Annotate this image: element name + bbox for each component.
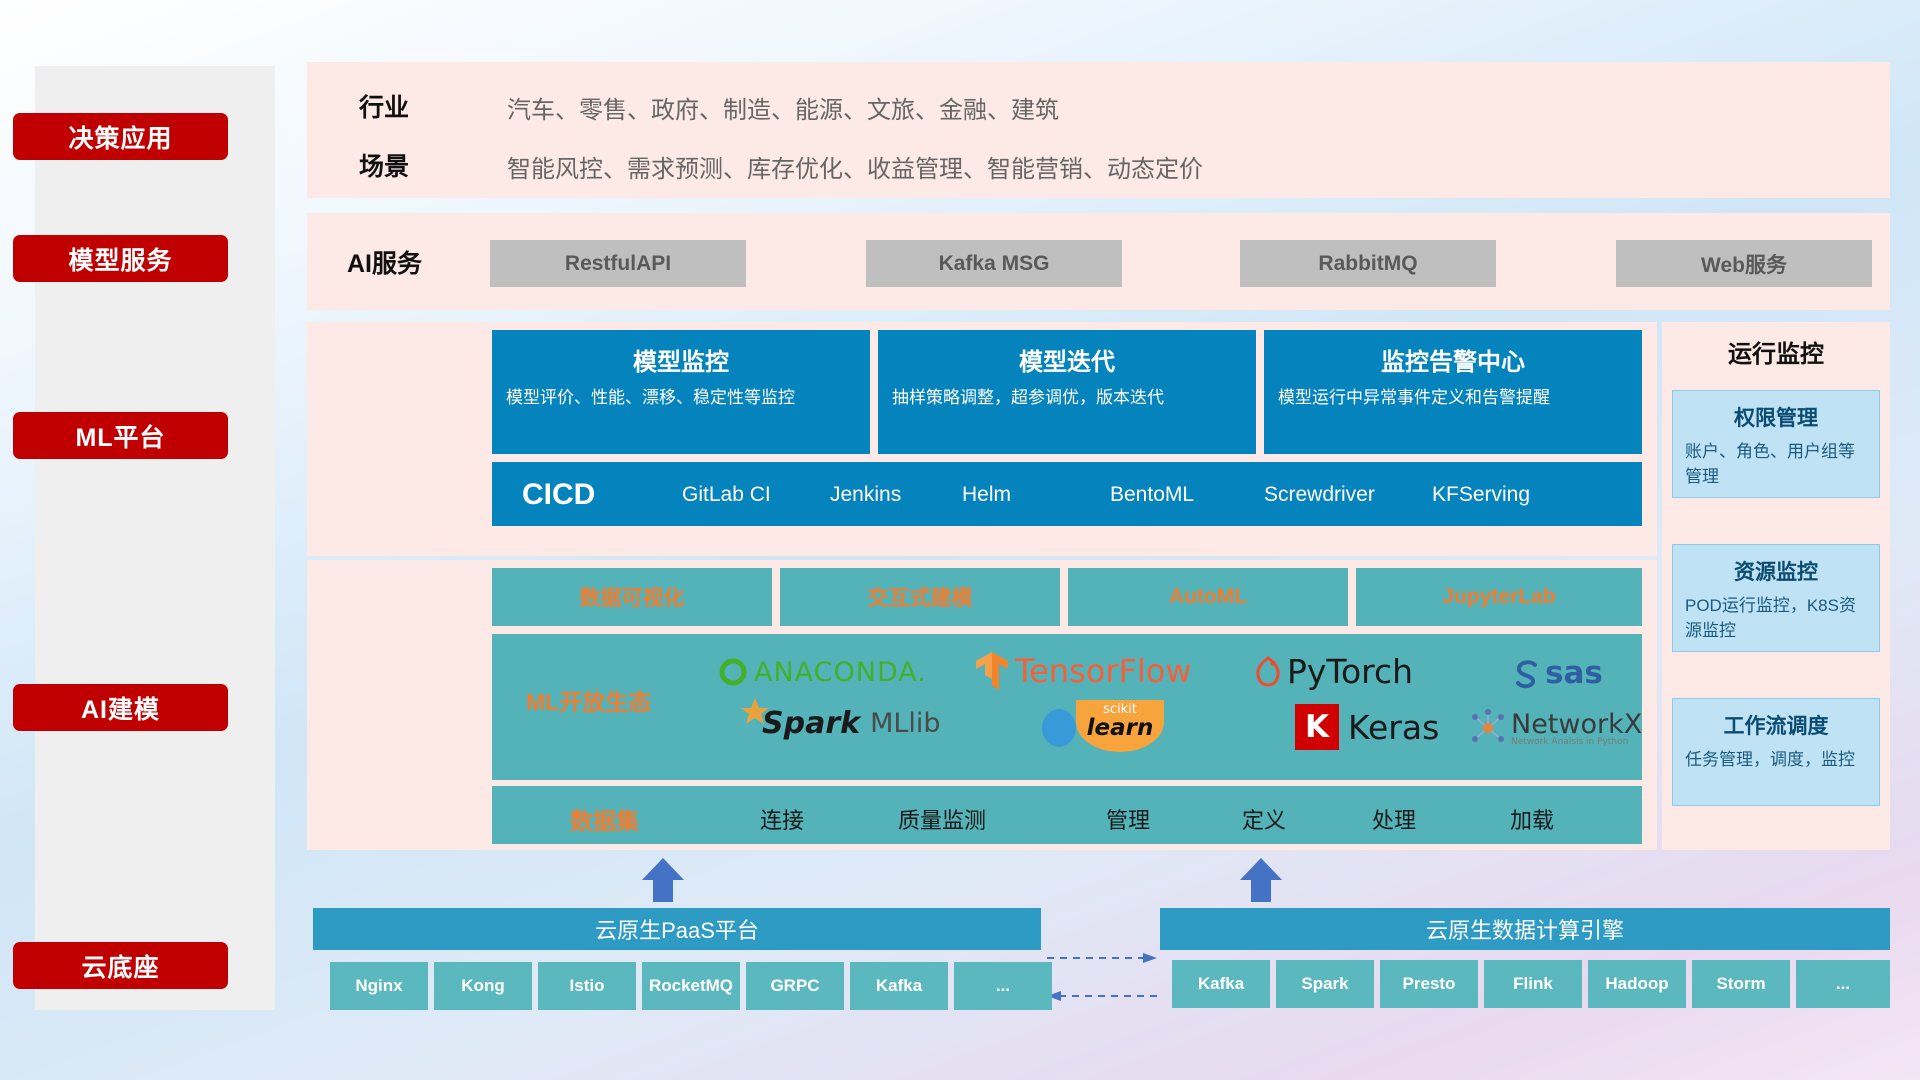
tech-chip-flink[interactable]: Flink	[1484, 960, 1582, 1008]
monitoring-card-desc: 账户、角色、用户组等管理	[1685, 440, 1867, 489]
tech-chip-label: Presto	[1403, 974, 1456, 994]
networkx-glyph	[1468, 708, 1508, 748]
keras-mark-letter: K	[1305, 709, 1329, 745]
service-chip-label: Web服务	[1701, 249, 1787, 279]
data-engine-label: 云原生数据计算引擎	[1426, 913, 1624, 945]
networkx-tagline: Network Analsis in Python	[1511, 737, 1642, 747]
data-engine-bar[interactable]: 云原生数据计算引擎	[1160, 908, 1890, 950]
mlops-card-title: 模型监控	[492, 342, 870, 377]
tool-tab-data-visualization[interactable]: 数据可视化	[492, 568, 772, 626]
dataset-label: 数据集	[570, 802, 639, 836]
monitoring-title: 运行监控	[1662, 334, 1890, 369]
service-chip-label: Kafka MSG	[939, 252, 1050, 276]
mlops-card-desc: 模型评价、性能、漂移、稳定性等监控	[506, 386, 856, 411]
tech-chip-label: ...	[996, 976, 1010, 996]
dataset-item-connect[interactable]: 连接	[760, 803, 804, 835]
layer-chip-decision[interactable]: 决策应用	[13, 113, 228, 160]
tech-chip-more-right[interactable]: ...	[1796, 960, 1890, 1008]
tensorflow-logo: TensorFlow	[972, 650, 1192, 692]
mlops-card-desc: 抽样策略调整，超参调优，版本迭代	[892, 386, 1242, 411]
tech-chip-hadoop[interactable]: Hadoop	[1588, 960, 1686, 1008]
cloud-link-arrows	[1045, 946, 1159, 1008]
cicd-item-kfserving[interactable]: KFServing	[1432, 482, 1542, 508]
scenario-value: 智能风控、需求预测、库存优化、收益管理、智能营销、动态定价	[507, 149, 1203, 184]
tech-chip-nginx[interactable]: Nginx	[330, 962, 428, 1010]
mlops-card-desc: 模型运行中异常事件定义和告警提醒	[1278, 386, 1628, 411]
dataset-item-manage[interactable]: 管理	[1106, 803, 1150, 835]
mllib-wordmark: MLlib	[870, 708, 940, 739]
scikit-learn-logo: scikit learn	[1040, 700, 1182, 752]
tech-chip-istio[interactable]: Istio	[538, 962, 636, 1010]
service-chip-label: RabbitMQ	[1318, 252, 1417, 276]
networkx-text-block: NetworkX Network Analsis in Python	[1511, 709, 1642, 747]
tool-tab-label: 交互式建模	[868, 582, 973, 612]
architecture-diagram: 决策应用 模型服务 ML平台 AI建模 云底座 行业 汽车、零售、政府、制造、能…	[0, 0, 1920, 1080]
tech-chip-label: Kong	[461, 976, 504, 996]
spark-wordmark: Spark	[762, 706, 860, 741]
layer-chip-ml-platform[interactable]: ML平台	[13, 412, 228, 459]
cicd-item-helm[interactable]: Helm	[962, 482, 1052, 508]
cicd-label: CICD	[522, 478, 595, 512]
anaconda-glyph	[716, 655, 750, 689]
dataset-item-quality[interactable]: 质量监测	[898, 803, 986, 835]
tech-chip-label: Flink	[1513, 974, 1553, 994]
cicd-bar: CICD GitLab CI Jenkins Helm BentoML Scre…	[492, 462, 1642, 526]
data-engine-up-arrow-icon	[1238, 856, 1284, 904]
tool-tab-interactive-modeling[interactable]: 交互式建模	[780, 568, 1060, 626]
dataset-item-load[interactable]: 加载	[1510, 803, 1554, 835]
monitoring-card-desc: POD运行监控，K8S资源监控	[1685, 594, 1867, 643]
tech-chip-kong[interactable]: Kong	[434, 962, 532, 1010]
service-chip-label: RestfulAPI	[565, 252, 671, 276]
tech-chip-label: Istio	[570, 976, 605, 996]
sas-wordmark: sas	[1545, 655, 1603, 691]
pytorch-logo: PyTorch	[1252, 652, 1413, 691]
ml-ecosystem-caption: ML开放生态	[526, 688, 651, 718]
tech-chip-label: Hadoop	[1605, 974, 1668, 994]
cicd-item-bentoml[interactable]: BentoML	[1110, 482, 1208, 508]
layer-chip-label: ML平台	[75, 418, 165, 454]
monitoring-card-resources[interactable]: 资源监控 POD运行监控，K8S资源监控	[1672, 544, 1880, 652]
tech-chip-spark[interactable]: Spark	[1276, 960, 1374, 1008]
sas-logo: sas	[1510, 655, 1603, 691]
anaconda-logo: ANACONDA.	[716, 655, 927, 689]
dataset-item-process[interactable]: 处理	[1372, 803, 1416, 835]
mlops-card-title: 模型迭代	[878, 342, 1256, 377]
decision-panel: 行业 汽车、零售、政府、制造、能源、文旅、金融、建筑 场景 智能风控、需求预测、…	[307, 62, 1890, 198]
layer-chip-label: AI建模	[81, 690, 160, 726]
paas-up-arrow-icon	[640, 856, 686, 904]
service-chip-web[interactable]: Web服务	[1616, 240, 1872, 287]
industry-value: 汽车、零售、政府、制造、能源、文旅、金融、建筑	[507, 90, 1059, 125]
tool-tab-jupyterlab[interactable]: JupyterLab	[1356, 568, 1642, 626]
pytorch-wordmark: PyTorch	[1287, 652, 1413, 691]
layer-chip-cloud-base[interactable]: 云底座	[13, 942, 228, 989]
keras-mark: K	[1295, 704, 1339, 750]
cicd-item-screwdriver[interactable]: Screwdriver	[1264, 482, 1386, 508]
networkx-logo: NetworkX Network Analsis in Python	[1468, 708, 1642, 748]
anaconda-wordmark: ANACONDA.	[754, 657, 927, 688]
spark-mllib-logo: Spark MLlib	[740, 706, 941, 741]
layer-chip-label: 云底座	[81, 948, 159, 984]
layer-rail	[35, 66, 275, 1010]
tech-chip-grpc[interactable]: GRPC	[746, 962, 844, 1010]
tech-chip-label: Spark	[1301, 974, 1348, 994]
mlops-card-title: 监控告警中心	[1264, 342, 1642, 377]
tech-chip-label: ...	[1836, 974, 1850, 994]
tech-chip-label: Storm	[1716, 974, 1765, 994]
industry-key: 行业	[359, 88, 409, 124]
tech-chip-label: Kafka	[1198, 974, 1244, 994]
tool-tab-label: JupyterLab	[1442, 585, 1555, 609]
mlops-card-model-monitoring[interactable]: 模型监控 模型评价、性能、漂移、稳定性等监控	[492, 330, 870, 454]
layer-chip-ai-modeling[interactable]: AI建模	[13, 684, 228, 731]
layer-chip-label: 决策应用	[68, 119, 172, 155]
paas-platform-bar[interactable]: 云原生PaaS平台	[313, 908, 1041, 950]
scenario-key: 场景	[359, 147, 409, 183]
service-chip-restfulapi[interactable]: RestfulAPI	[490, 240, 746, 287]
tech-chip-presto[interactable]: Presto	[1380, 960, 1478, 1008]
tool-tab-automl[interactable]: AutoML	[1068, 568, 1348, 626]
monitoring-card-title: 权限管理	[1673, 402, 1879, 432]
spark-star-glyph	[740, 697, 770, 727]
monitoring-card-workflow[interactable]: 工作流调度 任务管理，调度，监控	[1672, 698, 1880, 806]
dataset-item-define[interactable]: 定义	[1242, 803, 1286, 835]
tech-chip-kafka-right[interactable]: Kafka	[1172, 960, 1270, 1008]
keras-logo: K Keras	[1295, 704, 1439, 750]
layer-chip-label: 模型服务	[68, 241, 172, 277]
tech-chip-rocketmq[interactable]: RocketMQ	[642, 962, 740, 1010]
tensorflow-wordmark: TensorFlow	[1015, 652, 1192, 690]
paas-platform-label: 云原生PaaS平台	[595, 913, 759, 945]
networkx-wordmark: NetworkX	[1511, 709, 1642, 740]
tech-chip-label: RocketMQ	[649, 976, 733, 996]
cicd-item-gitlab-ci[interactable]: GitLab CI	[682, 482, 812, 508]
tool-tab-label: 数据可视化	[580, 582, 685, 612]
pytorch-glyph	[1252, 653, 1284, 691]
monitoring-card-permissions[interactable]: 权限管理 账户、角色、用户组等管理	[1672, 390, 1880, 498]
tool-tab-label: AutoML	[1169, 585, 1247, 609]
tech-chip-label: Nginx	[355, 976, 402, 996]
dataset-band	[492, 786, 1642, 844]
mlops-card-model-iteration[interactable]: 模型迭代 抽样策略调整，超参调优，版本迭代	[878, 330, 1256, 454]
service-chip-rabbitmq[interactable]: RabbitMQ	[1240, 240, 1496, 287]
learn-wordmark: learn	[1076, 715, 1164, 741]
cicd-item-jenkins[interactable]: Jenkins	[830, 482, 906, 508]
tech-chip-label: Kafka	[876, 976, 922, 996]
monitoring-card-desc: 任务管理，调度，监控	[1685, 748, 1867, 773]
monitoring-card-title: 资源监控	[1673, 556, 1879, 586]
tech-chip-kafka-left[interactable]: Kafka	[850, 962, 948, 1010]
ai-service-label: AI服务	[347, 213, 422, 310]
monitoring-card-title: 工作流调度	[1673, 710, 1879, 740]
sas-glyph	[1510, 656, 1544, 690]
tech-chip-storm[interactable]: Storm	[1692, 960, 1790, 1008]
tech-chip-label: GRPC	[770, 976, 819, 996]
tensorflow-glyph	[972, 650, 1012, 692]
mlops-card-alert-center[interactable]: 监控告警中心 模型运行中异常事件定义和告警提醒	[1264, 330, 1642, 454]
layer-chip-model-service[interactable]: 模型服务	[13, 235, 228, 282]
tech-chip-more-left[interactable]: ...	[954, 962, 1052, 1010]
service-chip-kafka-msg[interactable]: Kafka MSG	[866, 240, 1122, 287]
keras-wordmark: Keras	[1348, 708, 1439, 747]
